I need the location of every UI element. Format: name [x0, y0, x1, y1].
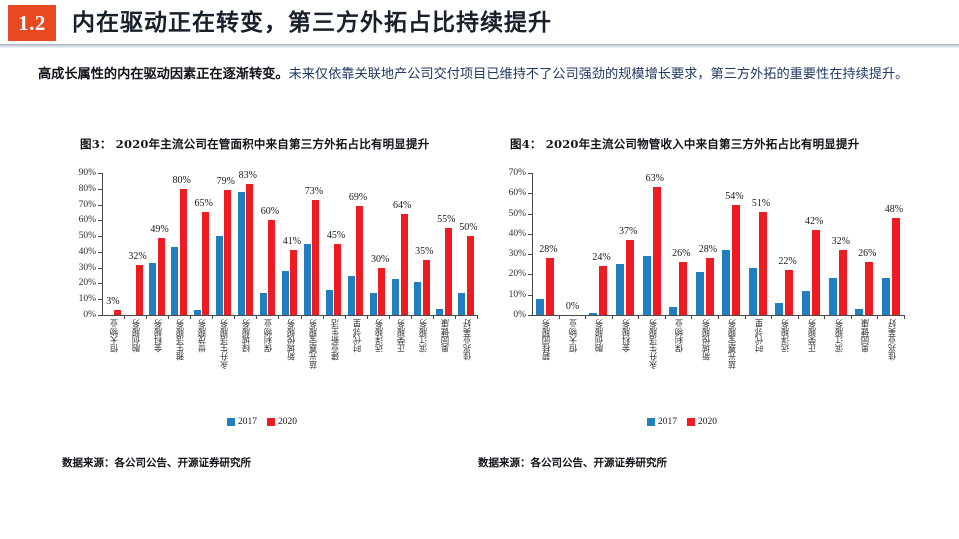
x-axis-tick — [559, 315, 560, 319]
bar-2017 — [414, 282, 421, 315]
bar-value-label: 26% — [672, 248, 690, 259]
x-axis-category-label: 碧桂园服务 — [540, 319, 552, 361]
bar-value-label: 50% — [459, 222, 477, 233]
x-axis-tick — [234, 315, 235, 319]
bar-value-label: 79% — [217, 176, 235, 187]
bar-2020 — [268, 220, 275, 315]
bar-2017 — [749, 268, 757, 315]
bar-2020 — [599, 266, 607, 315]
y-axis-tick-label: 40% — [509, 229, 526, 239]
x-axis-category-label: 雅生活服务 — [174, 319, 186, 361]
y-axis-tick-label: 50% — [79, 231, 96, 241]
x-axis-tick — [638, 315, 639, 319]
bar-2017 — [260, 293, 267, 315]
x-axis-category-label: 金科服务 — [152, 319, 164, 352]
y-axis-tick-label: 10% — [79, 294, 96, 304]
bar-2020 — [180, 189, 187, 315]
bar-value-label: 28% — [539, 244, 557, 255]
y-axis-tick-label: 70% — [509, 168, 526, 178]
bar-value-label: 22% — [778, 256, 796, 267]
x-axis-tick — [455, 315, 456, 319]
slide-header: 1.2 内在驱动正在转变，第三方外拓占比持续提升 — [0, 0, 959, 46]
x-axis-tick — [798, 315, 799, 319]
x-axis-category-label: 奥园健康 — [859, 319, 871, 352]
y-axis-tick-label: 30% — [79, 263, 96, 273]
bar-2020 — [290, 250, 297, 315]
legend-item-2017: 2017 — [227, 417, 257, 427]
bar-2020 — [136, 265, 143, 315]
x-axis-tick — [585, 315, 586, 319]
bar-2020 — [423, 260, 430, 315]
chart-panel-fig3: 图3： 2020年主流公司在管面积中来自第三方外拓占比有明显提升 0%10%20… — [62, 136, 482, 481]
bar-2017 — [348, 276, 355, 315]
x-axis-category-label: 远洋服务 — [779, 319, 791, 352]
bar-2017 — [616, 264, 624, 315]
bar-value-label: 35% — [415, 246, 433, 257]
x-axis-category-label: 绿城服务 — [240, 319, 252, 352]
x-axis-category-label: 蓝光嘉宝服务 — [726, 319, 738, 369]
bar-2017 — [589, 313, 597, 315]
x-axis-tick — [168, 315, 169, 319]
bar-2017 — [194, 310, 201, 315]
x-axis-category-label: 滨江服务 — [833, 319, 845, 352]
x-axis-tick — [345, 315, 346, 319]
bar-value-label: 83% — [239, 170, 257, 181]
bar-2020 — [785, 270, 793, 315]
bar-value-label: 32% — [128, 251, 146, 262]
bar-value-label: 69% — [349, 192, 367, 203]
bar-2017 — [829, 278, 837, 315]
bar-2020 — [732, 205, 740, 315]
y-axis-tick-label: 60% — [79, 215, 96, 225]
x-axis-tick — [612, 315, 613, 319]
x-axis-tick — [904, 315, 905, 319]
y-axis-line — [102, 173, 103, 315]
x-axis-category-label: 恒大物业 — [567, 319, 579, 352]
x-axis-category-label: 新城悦服务 — [285, 319, 297, 361]
bar-2017 — [370, 293, 377, 315]
bar-value-label: 37% — [619, 226, 637, 237]
x-axis-tick — [665, 315, 666, 319]
x-axis-category-label: 佳兆业美好 — [461, 319, 473, 361]
bar-2017 — [304, 244, 311, 315]
x-axis-category-label: 新城悦服务 — [700, 319, 712, 361]
bar-value-label: 51% — [752, 198, 770, 209]
bar-value-label: 80% — [172, 175, 190, 186]
bar-2020 — [812, 230, 820, 315]
x-axis-category-label: 佳兆业美好 — [886, 319, 898, 361]
x-axis-category-label: 融创服务 — [593, 319, 605, 352]
bar-value-label: 49% — [150, 224, 168, 235]
bar-2020 — [378, 268, 385, 315]
y-axis-tick-label: 10% — [509, 290, 526, 300]
x-axis-category-label: 保利物业 — [262, 319, 274, 352]
legend-swatch-2020-icon — [267, 418, 275, 426]
bar-2017 — [696, 272, 704, 315]
legend-item-2020: 2020 — [267, 417, 297, 427]
y-axis-tick-label: 20% — [79, 278, 96, 288]
page-title: 内在驱动正在转变，第三方外拓占比持续提升 — [72, 6, 552, 40]
x-axis-tick — [190, 315, 191, 319]
legend-label-2017: 2017 — [238, 417, 257, 427]
y-axis-tick-label: 20% — [509, 269, 526, 279]
y-axis-tick-label: 30% — [509, 249, 526, 259]
bar-2020 — [224, 190, 231, 315]
bar-value-label: 48% — [885, 204, 903, 215]
chart-legend-fig4: 2017 2020 — [647, 417, 717, 427]
bar-2017 — [722, 250, 730, 315]
x-axis-category-label: 永升生活服务 — [218, 319, 230, 369]
legend-label-2020: 2020 — [698, 417, 717, 427]
bar-2020 — [467, 236, 474, 315]
y-axis-tick-label: 90% — [79, 168, 96, 178]
bar-2017 — [238, 192, 245, 315]
legend-item-2020: 2020 — [687, 417, 717, 427]
x-axis-category-label: 时代邻里 — [351, 319, 363, 352]
bar-2017 — [458, 293, 465, 315]
body-paragraph: 高成长属性的内在驱动因素正在逐渐转变。未来仅依靠关联地产公司交付项目已维持不了公… — [38, 64, 928, 85]
bar-2020 — [114, 310, 121, 315]
bar-2017 — [882, 278, 890, 315]
x-axis-category-label: 保利物业 — [673, 319, 685, 352]
bar-2017 — [643, 256, 651, 315]
bar-value-label: 60% — [261, 206, 279, 217]
bar-value-label: 26% — [858, 248, 876, 259]
bar-2020 — [679, 262, 687, 315]
x-axis-tick — [278, 315, 279, 319]
x-axis-category-label: 远洋服务 — [373, 319, 385, 352]
bar-2017 — [536, 299, 544, 315]
x-axis-tick — [771, 315, 772, 319]
bar-2017 — [216, 236, 223, 315]
bar-2020 — [865, 262, 873, 315]
y-axis-tick-label: 40% — [79, 247, 96, 257]
paragraph-lead: 高成长属性的内在驱动因素正在逐渐转变。 — [38, 67, 289, 82]
legend-item-2017: 2017 — [647, 417, 677, 427]
bar-2017 — [149, 263, 156, 315]
bar-2020 — [202, 212, 209, 315]
bar-2020 — [445, 228, 452, 315]
header-divider-inner — [0, 48, 959, 50]
bar-value-label: 24% — [592, 252, 610, 263]
bar-2020 — [892, 218, 900, 315]
x-axis-tick — [691, 315, 692, 319]
bar-value-label: 64% — [393, 200, 411, 211]
x-axis-tick — [212, 315, 213, 319]
bar-value-label: 45% — [327, 230, 345, 241]
bar-2020 — [401, 214, 408, 315]
chart-panel-fig4: 图4： 2020年主流公司物管收入中来自第三方外拓占比有明显提升 0%10%20… — [492, 136, 912, 481]
bar-2020 — [653, 187, 661, 315]
x-axis-category-label: 时代邻里 — [753, 319, 765, 352]
y-axis-tick-label: 60% — [509, 188, 526, 198]
legend-label-2020: 2020 — [278, 417, 297, 427]
bar-2017 — [171, 247, 178, 315]
bar-2020 — [158, 238, 165, 315]
x-axis-tick — [124, 315, 125, 319]
bar-2020 — [626, 240, 634, 315]
chart-plot-fig3: 0%10%20%30%40%50%60%70%80%90%3%恒大物业32%融创… — [62, 161, 482, 416]
bar-2017 — [282, 271, 289, 315]
x-axis-category-label: 建业新生活 — [329, 319, 341, 361]
bar-2020 — [759, 212, 767, 315]
bar-value-label: 0% — [566, 301, 579, 312]
y-axis-tick-label: 50% — [509, 209, 526, 219]
x-axis-category-label: 世茂服务 — [196, 319, 208, 352]
x-axis-category-label: 正荣服务 — [806, 319, 818, 352]
section-number-badge: 1.2 — [8, 5, 56, 41]
bar-2020 — [246, 184, 253, 315]
x-axis-category-label: 融创服务 — [130, 319, 142, 352]
bar-value-label: 41% — [283, 236, 301, 247]
x-axis-tick — [433, 315, 434, 319]
x-axis-tick — [323, 315, 324, 319]
chart-title-fig3: 图3： 2020年主流公司在管面积中来自第三方外拓占比有明显提升 — [80, 136, 482, 152]
bar-2017 — [669, 307, 677, 315]
x-axis-tick — [367, 315, 368, 319]
bar-value-label: 28% — [699, 244, 717, 255]
bar-value-label: 63% — [646, 173, 664, 184]
x-axis-tick — [301, 315, 302, 319]
bar-value-label: 65% — [195, 198, 213, 209]
x-axis-tick — [718, 315, 719, 319]
y-axis-line — [532, 173, 533, 315]
source-note-fig3: 数据来源：各公司公告、开源证券研究所 — [62, 455, 251, 470]
y-axis-tick-label: 70% — [79, 200, 96, 210]
x-axis-category-label: 奥园健康 — [439, 319, 451, 352]
bar-2020 — [312, 200, 319, 315]
x-axis-line — [102, 315, 477, 316]
x-axis-tick — [824, 315, 825, 319]
x-axis-category-label: 正荣服务 — [395, 319, 407, 352]
x-axis-category-label: 滨江服务 — [417, 319, 429, 352]
x-axis-tick — [146, 315, 147, 319]
x-axis-tick — [389, 315, 390, 319]
y-axis-tick-label: 0% — [83, 310, 96, 320]
legend-swatch-2017-icon — [227, 418, 235, 426]
y-axis-tick-label: 0% — [513, 310, 526, 320]
x-axis-category-label: 永升生活服务 — [647, 319, 659, 369]
bar-value-label: 55% — [437, 214, 455, 225]
bar-value-label: 30% — [371, 254, 389, 265]
bar-2017 — [326, 290, 333, 315]
x-axis-tick — [877, 315, 878, 319]
source-note-fig4: 数据来源：各公司公告、开源证券研究所 — [478, 455, 667, 470]
legend-swatch-2020-icon — [687, 418, 695, 426]
paragraph-rest: 未来仅依靠关联地产公司交付项目已维持不了公司强劲的规模增长要求，第三方外拓的重要… — [289, 67, 909, 82]
chart-title-fig4: 图4： 2020年主流公司物管收入中来自第三方外拓占比有明显提升 — [510, 136, 912, 152]
bar-value-label: 42% — [805, 216, 823, 227]
chart-legend-fig3: 2017 2020 — [227, 417, 297, 427]
bar-2020 — [356, 206, 363, 315]
legend-label-2017: 2017 — [658, 417, 677, 427]
x-axis-tick — [851, 315, 852, 319]
bar-2020 — [706, 258, 714, 315]
bar-value-label: 54% — [725, 191, 743, 202]
x-axis-category-label: 恒大物业 — [108, 319, 120, 352]
bar-2020 — [546, 258, 554, 315]
bar-value-label: 73% — [305, 186, 323, 197]
bar-2020 — [839, 250, 847, 315]
bar-2017 — [392, 279, 399, 315]
x-axis-tick — [477, 315, 478, 319]
chart-plot-fig4: 0%10%20%30%40%50%60%70%28%碧桂园服务0%恒大物业24%… — [492, 161, 912, 416]
bar-2020 — [334, 244, 341, 315]
bar-2017 — [855, 309, 863, 315]
x-axis-tick — [256, 315, 257, 319]
bar-2017 — [802, 291, 810, 315]
x-axis-tick — [411, 315, 412, 319]
bar-2017 — [775, 303, 783, 315]
bar-2017 — [436, 309, 443, 315]
bar-value-label: 32% — [832, 236, 850, 247]
x-axis-tick — [745, 315, 746, 319]
x-axis-category-label: 金科服务 — [620, 319, 632, 352]
legend-swatch-2017-icon — [647, 418, 655, 426]
y-axis-tick-label: 80% — [79, 184, 96, 194]
x-axis-category-label: 蓝光嘉宝服务 — [307, 319, 319, 369]
bar-value-label: 3% — [106, 296, 119, 307]
